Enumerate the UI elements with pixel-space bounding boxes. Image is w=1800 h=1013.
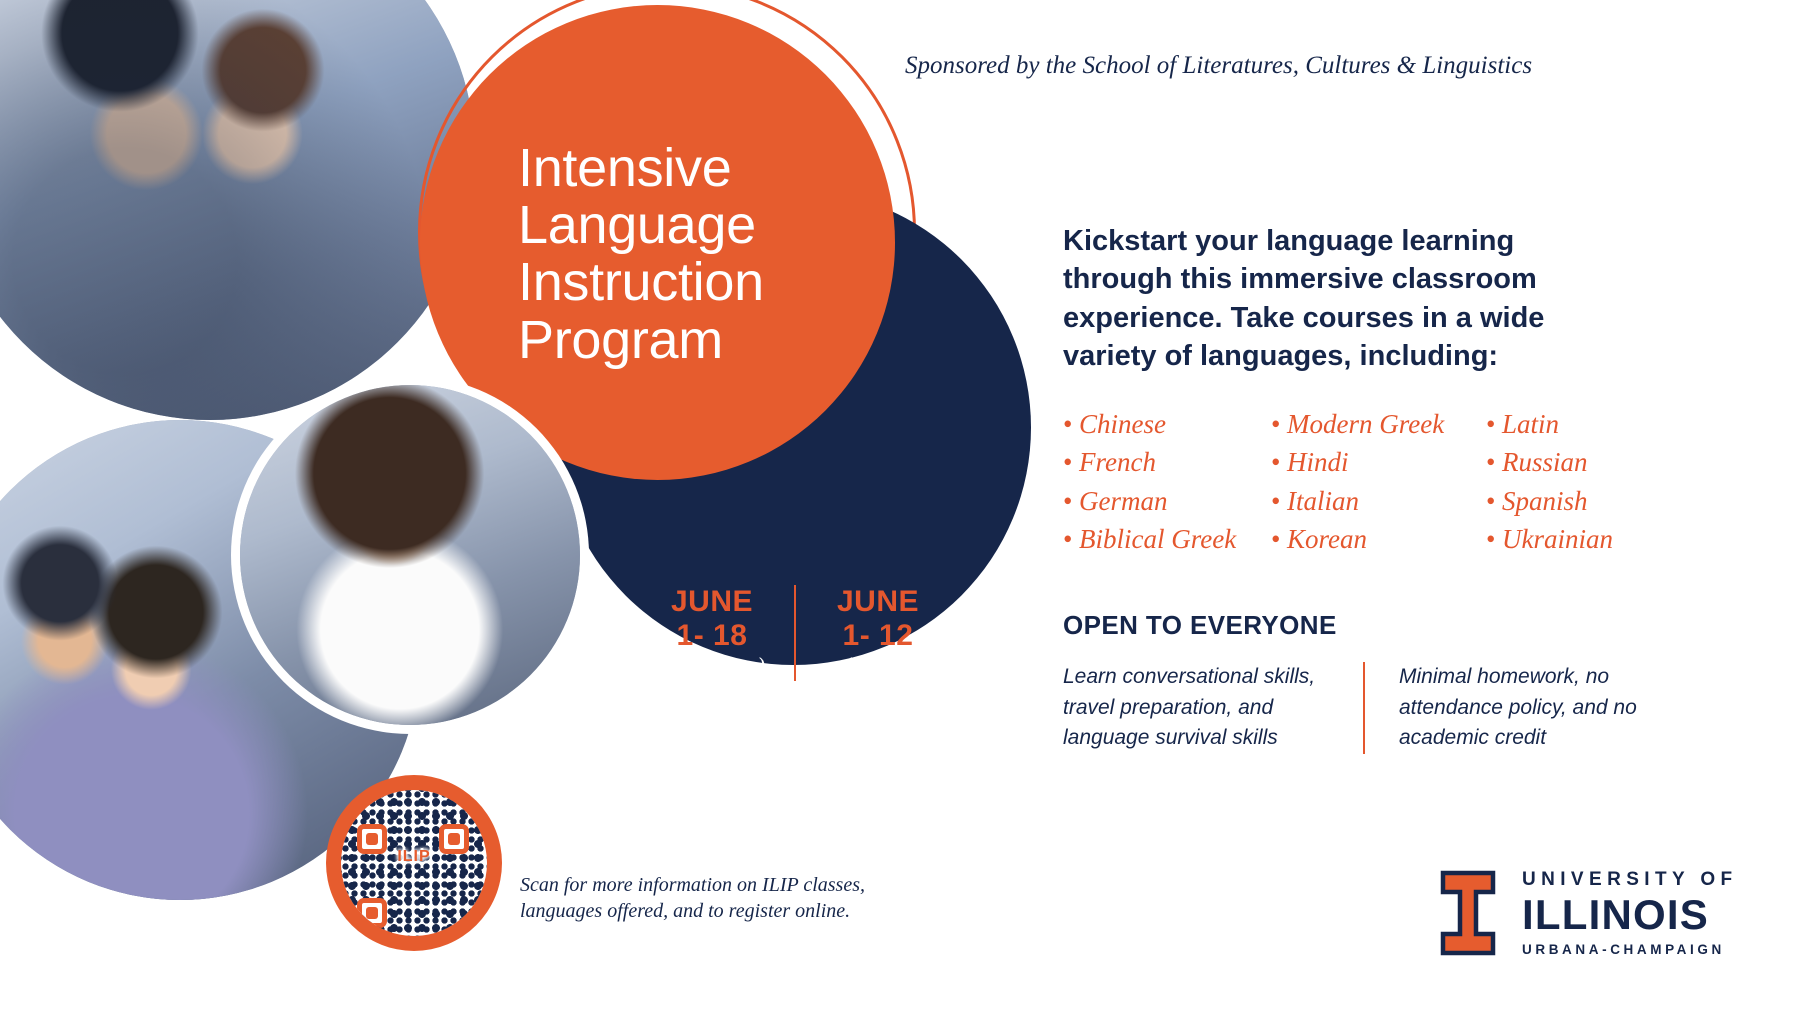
date-range: 1- 18	[644, 619, 780, 653]
language-label: Latin	[1502, 409, 1559, 439]
language-label: Spanish	[1502, 486, 1588, 516]
title-line-3: Instruction	[518, 254, 858, 311]
list-item: •Italian	[1271, 482, 1486, 520]
qr-label: ILIP	[341, 848, 487, 866]
language-label: German	[1079, 486, 1168, 516]
sponsor-text: Sponsored by the School of Literatures, …	[905, 52, 1532, 80]
qr-caption: Scan for more information on ILIP classe…	[520, 872, 940, 925]
qr-caption-line-1: Scan for more information on ILIP classe…	[520, 872, 940, 898]
list-item: •French	[1063, 443, 1271, 481]
list-item: •Russian	[1486, 443, 1671, 481]
language-label: Biblical Greek	[1079, 524, 1236, 554]
list-item: •Ukrainian	[1486, 520, 1671, 558]
qr-finder-bottom-left-icon	[357, 898, 387, 928]
qr-code-icon[interactable]: ILIP	[341, 790, 487, 936]
language-label: Russian	[1502, 447, 1588, 477]
language-label: Italian	[1287, 486, 1359, 516]
list-item: •Spanish	[1486, 482, 1671, 520]
title-line-4: Program	[518, 312, 858, 369]
bullet-icon: •	[1063, 443, 1079, 481]
language-label: Hindi	[1287, 447, 1349, 477]
date-column-in-person: JUNE 1- 18 (in person)	[630, 585, 794, 681]
benefit-column-1: Learn conversational skills, travel prep…	[1063, 662, 1363, 754]
list-item: •Biblical Greek	[1063, 520, 1271, 558]
illinois-block-i-icon	[1440, 870, 1496, 956]
bullet-icon: •	[1486, 520, 1502, 558]
bullet-icon: •	[1486, 405, 1502, 443]
date-month: JUNE	[810, 585, 946, 619]
intro-line-3: experience. Take courses in a wide	[1063, 299, 1673, 337]
title-line-2: Language	[518, 197, 858, 254]
photo-image	[0, 0, 475, 420]
date-mode: (Zoom)	[810, 654, 946, 681]
list-item: •Chinese	[1063, 405, 1271, 443]
title-line-1: Intensive	[518, 140, 858, 197]
benefits-row: Learn conversational skills, travel prep…	[1063, 662, 1683, 754]
session-dates: JUNE 1- 18 (in person) JUNE 1- 12 (Zoom)	[630, 585, 960, 681]
photo-image	[240, 385, 580, 725]
bullet-icon: •	[1271, 405, 1287, 443]
bullet-icon: •	[1486, 482, 1502, 520]
benefit-column-2: Minimal homework, no attendance policy, …	[1363, 662, 1665, 754]
bullet-icon: •	[1063, 482, 1079, 520]
logo-wordmark: UNIVERSITY OF ILLINOIS URBANA-CHAMPAIGN	[1522, 870, 1738, 957]
logo-line-illinois: ILLINOIS	[1522, 894, 1738, 936]
list-item: •Korean	[1271, 520, 1486, 558]
language-label: Korean	[1287, 524, 1367, 554]
logo-line-urbana-champaign: URBANA-CHAMPAIGN	[1522, 943, 1738, 957]
qr-caption-line-2: languages offered, and to register onlin…	[520, 898, 940, 924]
bullet-icon: •	[1486, 443, 1502, 481]
language-label: French	[1079, 447, 1156, 477]
list-item: •Modern Greek	[1271, 405, 1486, 443]
language-list: •Chinese •French •German •Biblical Greek…	[1063, 405, 1673, 558]
photo-classroom-top	[0, 0, 475, 420]
language-label: Chinese	[1079, 409, 1166, 439]
bullet-icon: •	[1063, 405, 1079, 443]
intro-line-2: through this immersive classroom	[1063, 260, 1673, 298]
bullet-icon: •	[1271, 482, 1287, 520]
photo-instructor	[240, 385, 580, 725]
date-column-zoom: JUNE 1- 12 (Zoom)	[794, 585, 960, 681]
page-title: Intensive Language Instruction Program	[518, 140, 858, 369]
language-label: Ukrainian	[1502, 524, 1613, 554]
date-range: 1- 12	[810, 619, 946, 653]
language-label: Modern Greek	[1287, 409, 1444, 439]
bullet-icon: •	[1271, 443, 1287, 481]
list-item: •German	[1063, 482, 1271, 520]
list-item: •Latin	[1486, 405, 1671, 443]
date-mode: (in person)	[644, 654, 780, 681]
bullet-icon: •	[1271, 520, 1287, 558]
intro-line-1: Kickstart your language learning	[1063, 222, 1673, 260]
date-month: JUNE	[644, 585, 780, 619]
university-logo: UNIVERSITY OF ILLINOIS URBANA-CHAMPAIGN	[1440, 870, 1738, 957]
bullet-icon: •	[1063, 520, 1079, 558]
logo-line-university-of: UNIVERSITY OF	[1522, 870, 1738, 889]
list-item: •Hindi	[1271, 443, 1486, 481]
poster-canvas: Intensive Language Instruction Program J…	[0, 0, 1800, 1013]
language-column-3: •Latin •Russian •Spanish •Ukrainian	[1486, 405, 1671, 558]
language-column-1: •Chinese •French •German •Biblical Greek	[1063, 405, 1271, 558]
intro-line-4: variety of languages, including:	[1063, 337, 1673, 375]
open-to-everyone-heading: OPEN TO EVERYONE	[1063, 610, 1337, 641]
language-column-2: •Modern Greek •Hindi •Italian •Korean	[1271, 405, 1486, 558]
intro-paragraph: Kickstart your language learning through…	[1063, 222, 1673, 375]
qr-code-badge[interactable]: ILIP	[326, 775, 502, 951]
